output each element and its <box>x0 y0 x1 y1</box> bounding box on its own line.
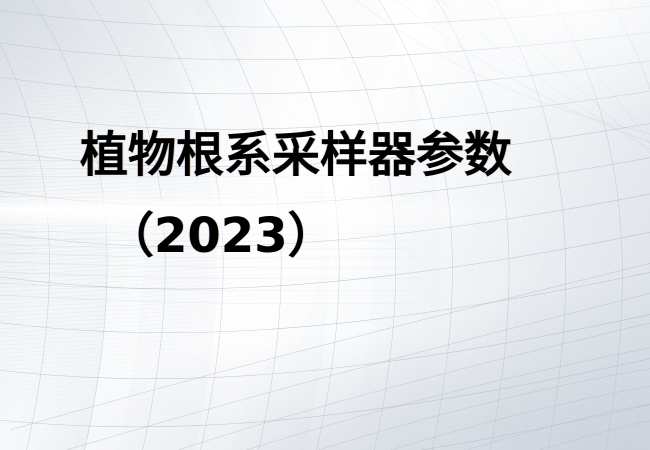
background-highlight-streak <box>0 0 650 450</box>
title-slide: 植物根系采样器参数 （2023） <box>0 0 650 450</box>
